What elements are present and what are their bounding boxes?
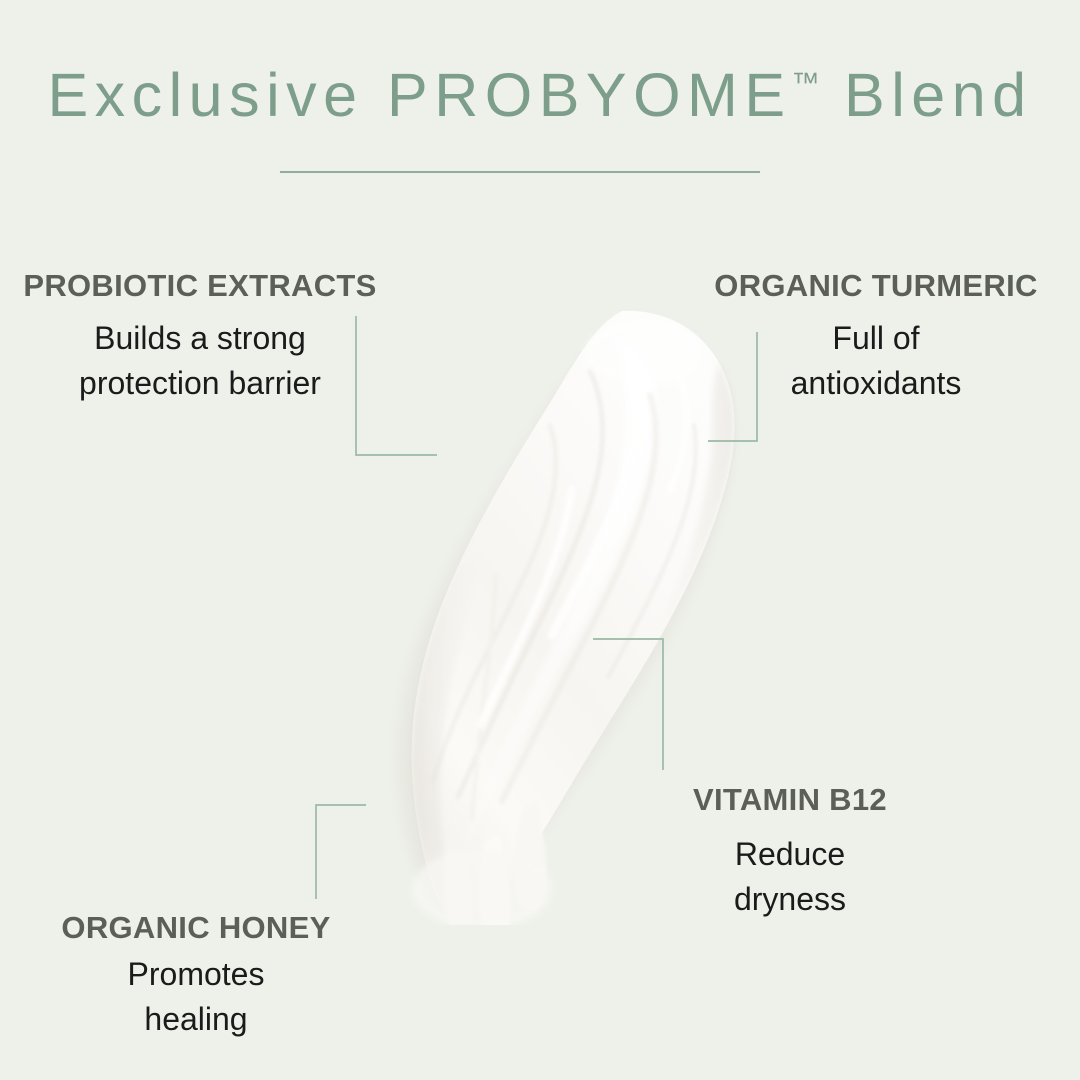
callout-body-organic-turmeric: Full of antioxidants (676, 316, 1076, 407)
callout-body-line-2: protection barrier (0, 361, 400, 406)
callout-body-line-2: healing (0, 997, 392, 1042)
product-ingredient-infographic: Exclusive PROBYOME™ Blend (0, 0, 1080, 1080)
callout-body-line-2: dryness (640, 877, 940, 922)
page-title-suffix: Blend (844, 61, 1033, 129)
page-title: Exclusive PROBYOME™ Blend (0, 62, 1080, 129)
callout-body-line-2: antioxidants (676, 361, 1076, 406)
callout-body-line-1: Promotes (0, 952, 392, 997)
page-title-prefix: Exclusive PROBYOME (47, 61, 791, 129)
callout-body-line-1: Builds a strong (0, 316, 400, 361)
callout-heading-probiotic-extracts: PROBIOTIC EXTRACTS (0, 268, 400, 304)
callout-organic-honey: ORGANIC HONEY Promotes healing (0, 910, 392, 1043)
callout-body-line-1: Full of (676, 316, 1076, 361)
callout-probiotic-extracts: PROBIOTIC EXTRACTS Builds a strong prote… (0, 268, 400, 407)
callout-body-line-1: Reduce (640, 832, 940, 877)
callout-vitamin-b12: VITAMIN B12 Reduce dryness (640, 782, 940, 923)
callout-body-organic-honey: Promotes healing (0, 952, 392, 1043)
callout-heading-organic-honey: ORGANIC HONEY (0, 910, 392, 946)
trademark-symbol: ™ (792, 67, 821, 98)
title-divider-rule (280, 171, 760, 173)
callout-heading-organic-turmeric: ORGANIC TURMERIC (676, 268, 1076, 304)
callout-organic-turmeric: ORGANIC TURMERIC Full of antioxidants (676, 268, 1076, 407)
callout-heading-vitamin-b12: VITAMIN B12 (640, 782, 940, 818)
callout-body-vitamin-b12: Reduce dryness (640, 832, 940, 923)
callout-body-probiotic-extracts: Builds a strong protection barrier (0, 316, 400, 407)
